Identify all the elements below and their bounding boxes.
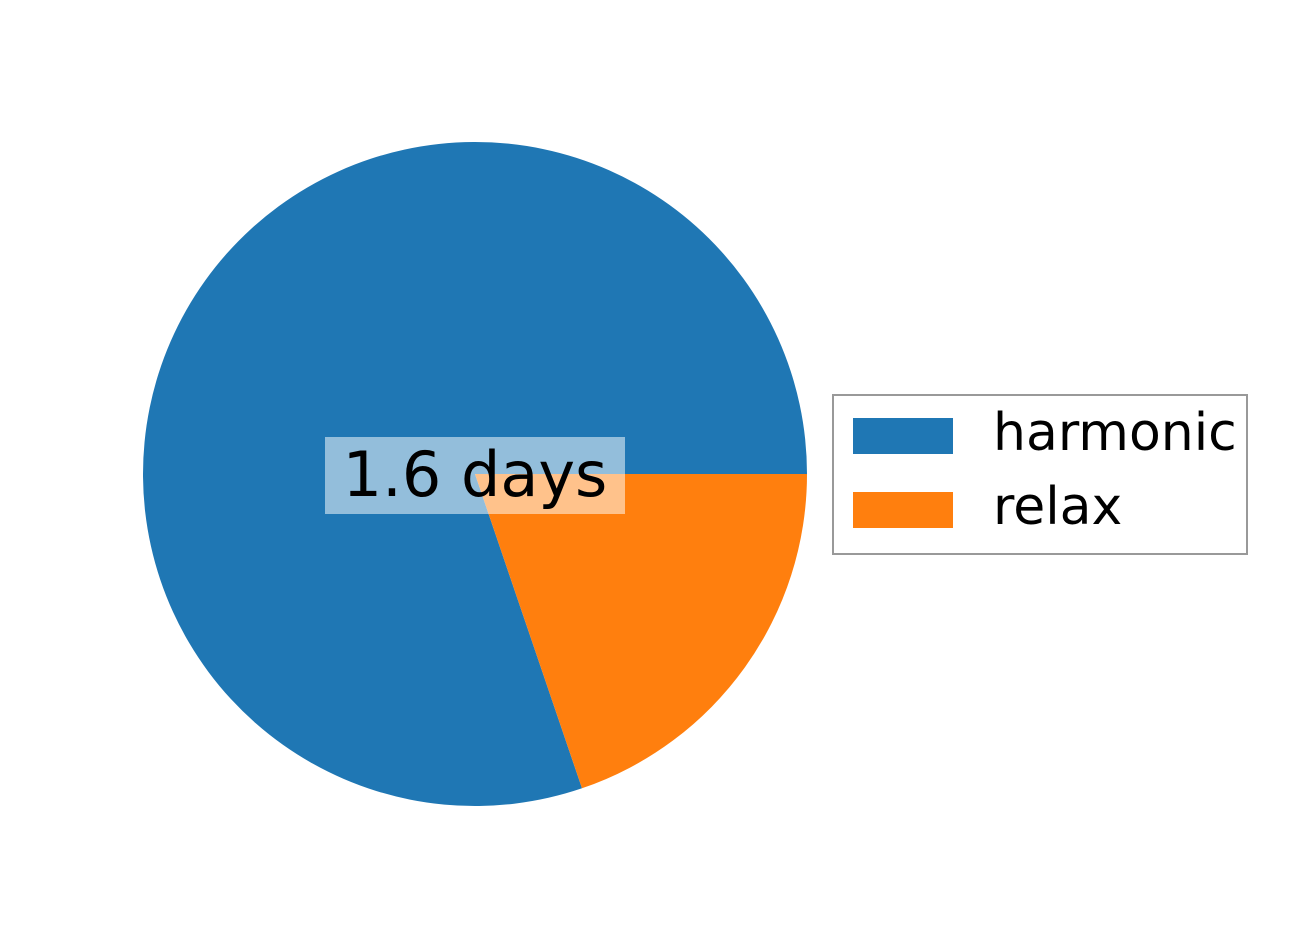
legend-entry-harmonic[interactable]: harmonic <box>834 414 1246 458</box>
legend-swatch-harmonic <box>853 418 953 454</box>
pie-slice-label: 1.6 days <box>325 437 625 514</box>
legend-box: harmonic relax <box>832 394 1248 555</box>
legend-label-harmonic: harmonic <box>993 407 1237 459</box>
legend-label-relax: relax <box>993 481 1122 533</box>
legend-swatch-relax <box>853 492 953 528</box>
legend-entry-relax[interactable]: relax <box>834 488 1246 532</box>
figure-canvas: 1.6 days harmonic relax <box>0 0 1307 951</box>
